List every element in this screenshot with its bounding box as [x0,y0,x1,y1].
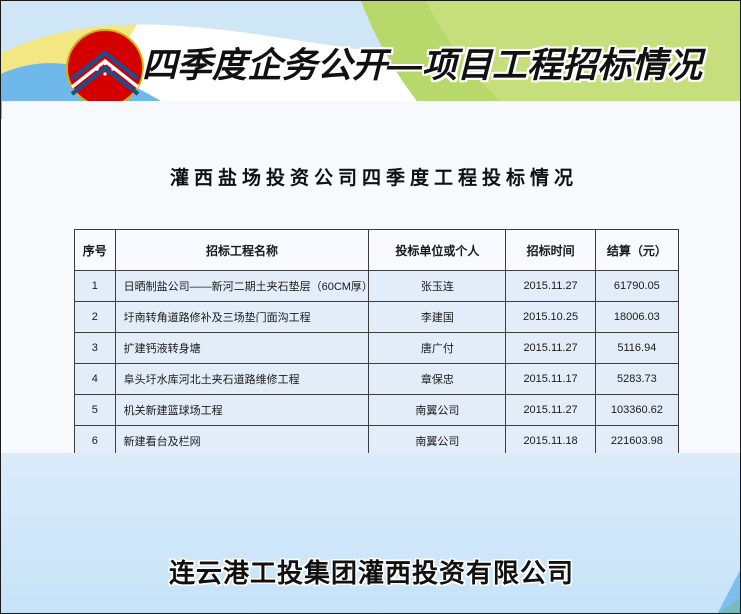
table-row: 2 圩南转角道路修补及三场垫门面沟工程 李建国 2015.10.25 18006… [75,302,679,333]
cell-date: 2015.11.27 [506,271,595,302]
footer-banner: 连云港工投集团灌西投资有限公司 [1,453,741,614]
cell-bidder: 张玉连 [369,271,506,302]
table-row: 3 扩建钙液转身塘 唐广付 2015.11.27 5116.94 [75,333,679,364]
table-header-row: 序号 招标工程名称 投标单位或个人 招标时间 结算（元） [75,230,679,271]
cell-seq: 3 [75,333,116,364]
cell-seq: 1 [75,271,116,302]
cell-amount: 5116.94 [595,333,678,364]
cell-project: 阜头圩水库河北土夹石道路维修工程 [115,364,369,395]
cell-project: 扩建钙液转身塘 [115,333,369,364]
cell-date: 2015.11.17 [506,364,595,395]
cell-project: 圩南转角道路修补及三场垫门面沟工程 [115,302,369,333]
table-row: 4 阜头圩水库河北土夹石道路维修工程 章保忠 2015.11.17 5283.7… [75,364,679,395]
cell-project: 日晒制盐公司——新河二期土夹石垫层（60CM厚） [115,271,369,302]
cell-bidder: 章保忠 [369,364,506,395]
cell-date: 2015.10.25 [506,302,595,333]
cell-bidder: 南翼公司 [369,395,506,426]
cell-date: 2015.11.27 [506,333,595,364]
table-body: 1 日晒制盐公司——新河二期土夹石垫层（60CM厚） 张玉连 2015.11.2… [75,271,679,457]
cell-amount: 221603.98 [595,426,678,457]
cell-amount: 61790.05 [595,271,678,302]
column-header-date: 招标时间 [506,230,595,271]
content-panel: 灌西盐场投资公司四季度工程投标情况 序号 招标工程名称 投标单位或个人 招标时间… [2,101,741,453]
cell-bidder: 唐广付 [369,333,506,364]
cell-bidder: 李建国 [369,302,506,333]
cell-seq: 5 [75,395,116,426]
cell-project: 新建看台及栏网 [115,426,369,457]
column-header-seq: 序号 [75,230,116,271]
cell-date: 2015.11.27 [506,395,595,426]
sheet-title: 灌西盐场投资公司四季度工程投标情况 [2,163,741,190]
cell-amount: 5283.73 [595,364,678,395]
table-row: 5 机关新建篮球场工程 南翼公司 2015.11.27 103360.62 [75,395,679,426]
table-row: 1 日晒制盐公司——新河二期土夹石垫层（60CM厚） 张玉连 2015.11.2… [75,271,679,302]
bidding-table: 序号 招标工程名称 投标单位或个人 招标时间 结算（元） 1 日晒制盐公司——新… [74,229,679,457]
cell-project: 机关新建篮球场工程 [115,395,369,426]
cell-seq: 6 [75,426,116,457]
cell-seq: 4 [75,364,116,395]
column-header-amount: 结算（元） [595,230,678,271]
cell-date: 2015.11.18 [506,426,595,457]
table-header: 序号 招标工程名称 投标单位或个人 招标时间 结算（元） [75,230,679,271]
cell-amount: 103360.62 [595,395,678,426]
footer-company-name: 连云港工投集团灌西投资有限公司 [1,553,741,590]
poster-root: 四季度企务公开—项目工程招标情况 灌西盐场投资公司四季度工程投标情况 序号 招标… [0,0,741,614]
table-row: 6 新建看台及栏网 南翼公司 2015.11.18 221603.98 [75,426,679,457]
banner-title: 四季度企务公开—项目工程招标情况 [142,41,722,91]
company-emblem-icon [64,27,146,109]
cell-amount: 18006.03 [595,302,678,333]
cell-bidder: 南翼公司 [369,426,506,457]
cell-seq: 2 [75,302,116,333]
column-header-bidder: 投标单位或个人 [369,230,506,271]
column-header-name: 招标工程名称 [115,230,369,271]
